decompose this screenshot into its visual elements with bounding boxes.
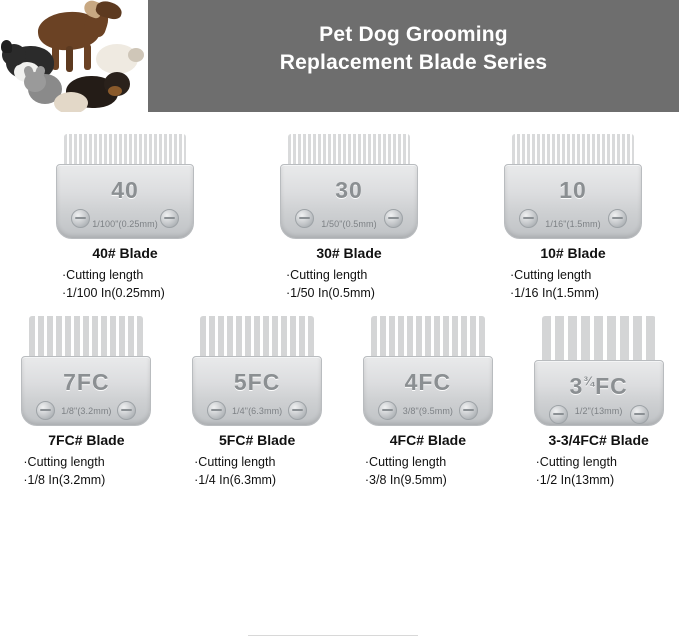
blade-row-bottom: 7FC 1/8"(3.2mm) 7FC# Blade Cutting lengt… [0,302,679,489]
blade-card-30: 30 1/50"(0.5mm) 30# Blade Cutting length… [260,134,438,302]
blade-label: 3-3/4FC# Blade [548,432,648,448]
blade-bullet-2: 1/2 In(13mm) [536,471,662,489]
blade-teeth [371,316,485,360]
blade-engraved-spec: 1/50"(0.5mm) [281,219,417,229]
blade-bullet-1: Cutting length [365,453,491,471]
blade-teeth [512,134,634,168]
blade-teeth [542,316,656,364]
blade-engraved-spec: 1/4"(6.3mm) [193,406,321,416]
blade-card-5fc: 5FC 1/4"(6.3mm) 5FC# Blade Cutting lengt… [177,316,338,489]
blade-number: 40 [57,177,193,204]
blade-card-7fc: 7FC 1/8"(3.2mm) 7FC# Blade Cutting lengt… [6,316,167,489]
blade-number: 30 [281,177,417,204]
blade-label: 4FC# Blade [390,432,466,448]
blade-bullet-2: 3/8 In(9.5mm) [365,471,491,489]
blade-bullet-1: Cutting length [510,266,636,284]
blade-card-40: 40 1/100"(0.25mm) 40# Blade Cutting leng… [36,134,214,302]
blade-label: 40# Blade [92,245,157,261]
blade-image-3-3-4fc: 3¾FC 1/2"(13mm) [534,316,664,426]
blade-body: 7FC 1/8"(3.2mm) [21,356,151,426]
page-title-line-1: Pet Dog Grooming [280,21,547,49]
blade-number-main: 3 [569,373,583,399]
footer-divider [248,635,418,636]
pet-animals-collage-image [0,0,148,112]
blade-image-10: 10 1/16"(1.5mm) [504,134,642,239]
blade-row-top: 40 1/100"(0.25mm) 40# Blade Cutting leng… [0,112,679,302]
page-title-line-2: Replacement Blade Series [280,49,547,77]
blade-bullets: Cutting length 1/16 In(1.5mm) [510,266,636,302]
blade-bullet-1: Cutting length [194,453,320,471]
blade-image-30: 30 1/50"(0.5mm) [280,134,418,239]
blade-body: 40 1/100"(0.25mm) [56,164,194,239]
blade-number: 10 [505,177,641,204]
blade-bullets: Cutting length 1/50 In(0.5mm) [286,266,412,302]
blade-card-4fc: 4FC 3/8"(9.5mm) 4FC# Blade Cutting lengt… [348,316,509,489]
blade-body: 3¾FC 1/2"(13mm) [534,360,664,426]
blade-bullet-2: 1/16 In(1.5mm) [510,284,636,302]
blade-label: 5FC# Blade [219,432,295,448]
blade-engraved-spec: 3/8"(9.5mm) [364,406,492,416]
blade-number: 5FC [193,369,321,396]
blade-bullet-2: 1/8 In(3.2mm) [23,471,149,489]
blade-label: 7FC# Blade [48,432,124,448]
blade-number: 7FC [22,369,150,396]
blade-label: 30# Blade [316,245,381,261]
blade-bullets: Cutting length 1/100 In(0.25mm) [62,266,188,302]
blade-bullets: Cutting length 1/8 In(3.2mm) [23,453,149,489]
blade-teeth [288,134,410,168]
blade-card-10: 10 1/16"(1.5mm) 10# Blade Cutting length… [484,134,662,302]
blade-bullets: Cutting length 1/2 In(13mm) [536,453,662,489]
blade-body: 5FC 1/4"(6.3mm) [192,356,322,426]
blade-bullets: Cutting length 1/4 In(6.3mm) [194,453,320,489]
blade-engraved-spec: 1/2"(13mm) [535,406,663,416]
blade-body: 30 1/50"(0.5mm) [280,164,418,239]
page-header: Pet Dog Grooming Replacement Blade Serie… [0,0,679,112]
blade-engraved-spec: 1/8"(3.2mm) [22,406,150,416]
blade-image-7fc: 7FC 1/8"(3.2mm) [21,316,151,426]
blade-teeth [29,316,143,360]
header-banner: Pet Dog Grooming Replacement Blade Serie… [148,0,679,112]
blade-teeth [64,134,186,168]
blade-number: 3¾FC [535,373,663,400]
blade-teeth [200,316,314,360]
blade-label: 10# Blade [540,245,605,261]
blade-body: 10 1/16"(1.5mm) [504,164,642,239]
blade-bullet-1: Cutting length [536,453,662,471]
blade-image-5fc: 5FC 1/4"(6.3mm) [192,316,322,426]
blade-number: 4FC [364,369,492,396]
blade-engraved-spec: 1/16"(1.5mm) [505,219,641,229]
blade-engraved-spec: 1/100"(0.25mm) [57,219,193,229]
blade-bullets: Cutting length 3/8 In(9.5mm) [365,453,491,489]
blade-bullet-2: 1/100 In(0.25mm) [62,284,188,302]
blade-bullet-2: 1/50 In(0.5mm) [286,284,412,302]
blade-bullet-1: Cutting length [286,266,412,284]
blade-bullet-1: Cutting length [62,266,188,284]
blade-image-4fc: 4FC 3/8"(9.5mm) [363,316,493,426]
blade-bullet-2: 1/4 In(6.3mm) [194,471,320,489]
blade-number-fraction: ¾ [583,374,595,389]
blade-number-tail: FC [595,373,628,399]
blade-card-3-3-4fc: 3¾FC 1/2"(13mm) 3-3/4FC# Blade Cutting l… [518,316,679,489]
blade-body: 4FC 3/8"(9.5mm) [363,356,493,426]
page-title: Pet Dog Grooming Replacement Blade Serie… [280,21,547,92]
blade-bullet-1: Cutting length [23,453,149,471]
blade-image-40: 40 1/100"(0.25mm) [56,134,194,239]
